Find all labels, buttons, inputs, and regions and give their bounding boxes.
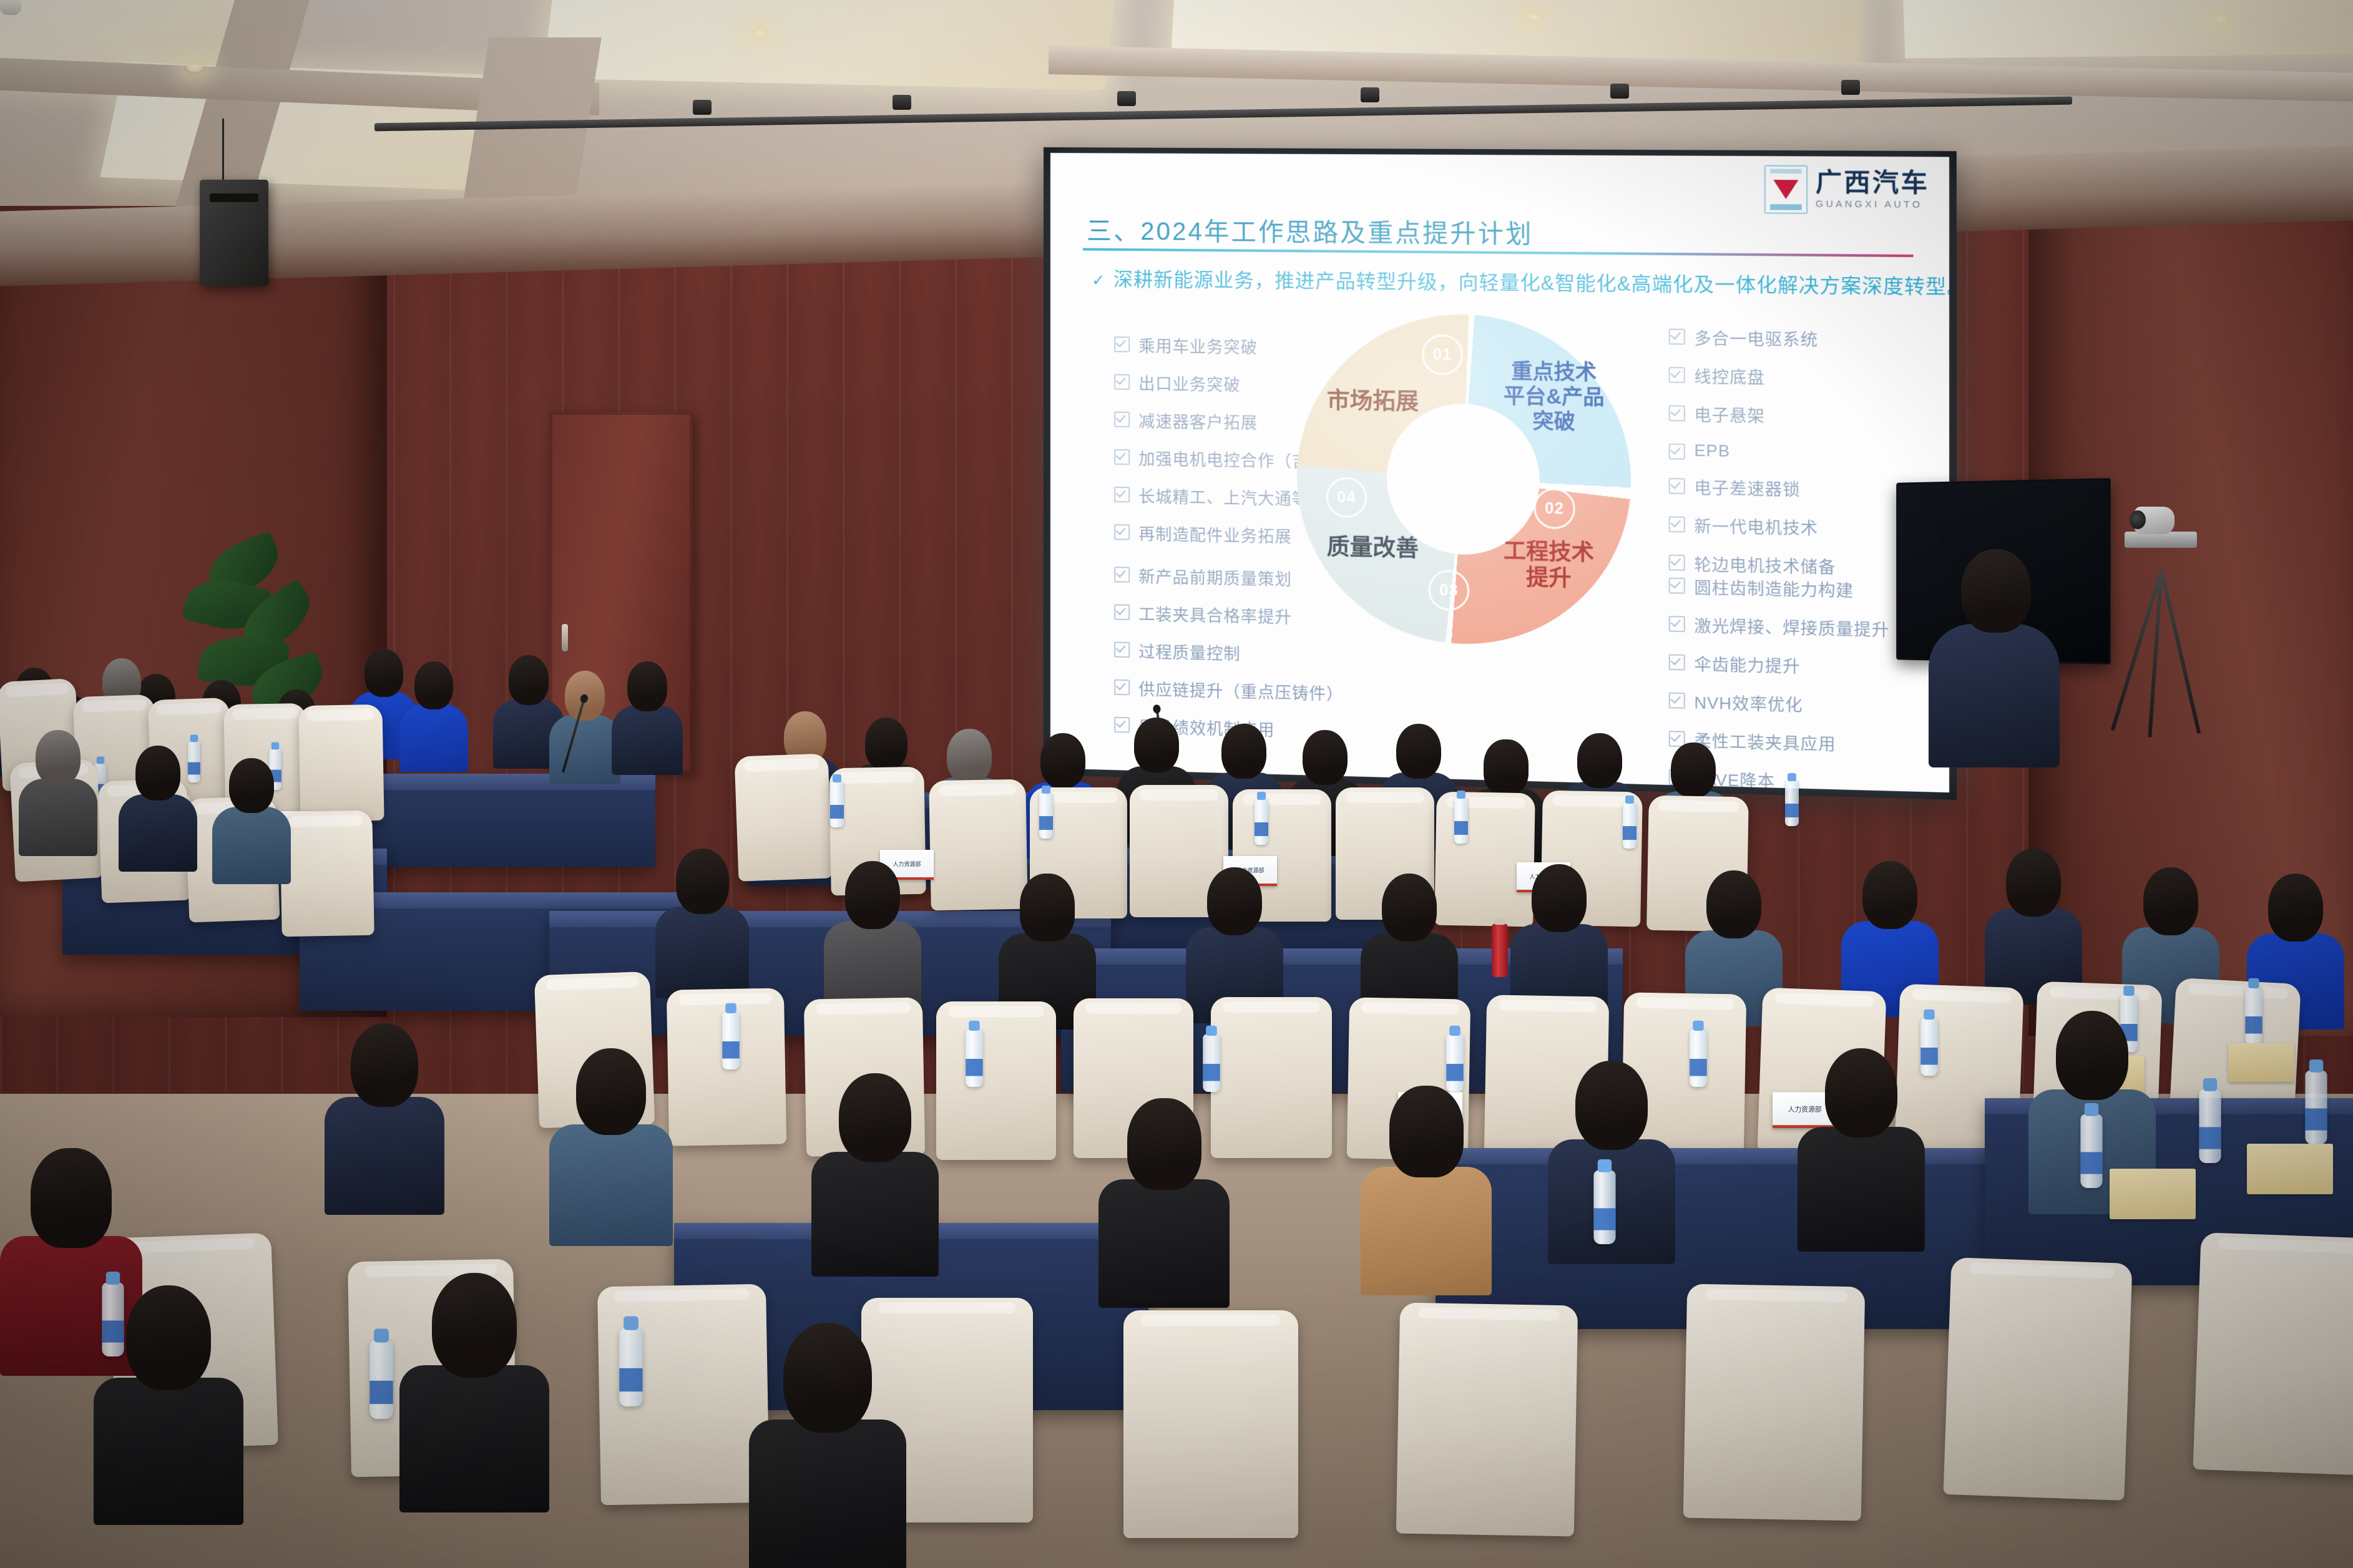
attendee-head xyxy=(2268,874,2323,942)
checkbox-icon xyxy=(1114,374,1130,389)
attendee-torso xyxy=(325,1097,444,1215)
attendee xyxy=(811,1073,939,1275)
checkmark-icon: ✓ xyxy=(1092,271,1106,290)
cycle-badge-04: 04 xyxy=(1326,477,1367,518)
water-bottle xyxy=(1785,780,1799,826)
attendee-head xyxy=(576,1048,646,1135)
attendee xyxy=(19,730,97,855)
attendee xyxy=(1798,1048,1925,1250)
track-light-6 xyxy=(1841,80,1860,95)
attendee xyxy=(655,849,749,997)
attendee xyxy=(1098,1098,1230,1306)
water-bottle xyxy=(1039,792,1053,839)
attendee-head xyxy=(1825,1048,1897,1137)
bullet-text: 线控底盘 xyxy=(1694,364,1764,388)
checkbox-icon xyxy=(1669,578,1685,594)
slide-subtitle-text: 深耕新能源业务，推进产品转型升级，向轻量化&智能化&高端化及一体化解决方案深度转… xyxy=(1113,268,1949,298)
attendee-head xyxy=(1532,864,1587,932)
attendee-head xyxy=(1020,874,1075,942)
chair xyxy=(298,704,384,822)
checkbox-icon xyxy=(1669,516,1685,532)
ceiling-speaker xyxy=(200,180,268,286)
cycle-label-line: 工程技术 xyxy=(1475,538,1623,567)
bullet-item: NVH效率优化 xyxy=(1669,689,1890,718)
attendee-head xyxy=(627,661,668,711)
bullet-item: 供应链提升（重点压铸件） xyxy=(1114,676,1343,705)
water-bottle xyxy=(1446,1035,1464,1093)
cycle-badge-02: 02 xyxy=(1534,488,1575,529)
track-light-3 xyxy=(1117,91,1136,106)
bullet-item: 轮边电机技术储备 xyxy=(1669,552,1836,578)
presentation-slide: 广西汽车 GUANGXI AUTO 三、2024年工作思路及重点提升计划 ✓深耕… xyxy=(1050,153,1949,792)
ceiling-downlight-4 xyxy=(2209,12,2231,26)
ceiling-light-panel-3 xyxy=(542,0,1117,90)
cycle-label-line: 市场拓展 xyxy=(1293,387,1453,416)
checkbox-icon xyxy=(1669,367,1685,383)
bullet-item: 线控底盘 xyxy=(1669,364,1836,389)
track-light-1 xyxy=(693,100,712,115)
attendee-torso xyxy=(212,807,291,884)
attendee xyxy=(399,661,468,771)
attendee-head xyxy=(1134,718,1178,772)
water-bottle xyxy=(369,1340,393,1419)
bullet-item: 多合一电驱系统 xyxy=(1669,326,1836,351)
cycle-label-02: 重点技术平台&产品突破 xyxy=(1480,359,1628,435)
bullet-text: 电子悬架 xyxy=(1694,402,1764,427)
attendee-torso xyxy=(1098,1179,1230,1308)
attendee-torso xyxy=(612,705,683,775)
attendee-head xyxy=(432,1273,517,1378)
attendee-head xyxy=(1862,861,1917,929)
attendee-head xyxy=(126,1285,211,1390)
logo-bar-bottom xyxy=(1770,204,1802,210)
bullet-item: EPB xyxy=(1669,441,1836,463)
cycle-diagram: 01020304市场拓展重点技术平台&产品突破工程技术提升质量改善 xyxy=(1297,313,1631,648)
bullet-text: 轮边电机技术储备 xyxy=(1694,552,1836,578)
attendee-torso xyxy=(811,1152,939,1277)
bullet-text: 减速器客户拓展 xyxy=(1138,409,1258,434)
attendee-head xyxy=(1706,870,1761,938)
slide-subtitle: ✓深耕新能源业务，推进产品转型升级，向轻量化&智能化&高端化及一体化解决方案深度… xyxy=(1092,263,1949,299)
bullet-text: 供应链提升（重点压铸件） xyxy=(1138,677,1343,705)
thermos xyxy=(1492,923,1508,977)
attendee xyxy=(612,661,683,774)
chair xyxy=(735,753,833,881)
water-bottle xyxy=(1255,799,1268,845)
checkbox-icon xyxy=(1114,412,1130,427)
bullet-text: 电子差速器锁 xyxy=(1694,475,1800,501)
attendee-head xyxy=(676,849,729,914)
chair xyxy=(1396,1303,1578,1537)
slide-title: 三、2024年工作思路及重点提升计划 xyxy=(1087,210,1533,250)
company-logo: 广西汽车 GUANGXI AUTO xyxy=(1764,165,1929,215)
water-bottle xyxy=(966,1030,983,1088)
water-bottle xyxy=(722,1012,740,1070)
bullet-text: NVH效率优化 xyxy=(1694,690,1803,716)
bullet-text: 再制造配件业务拓展 xyxy=(1138,522,1292,548)
bullet-item: 新一代电机技术 xyxy=(1669,513,1836,540)
cycle-label-line: 突破 xyxy=(1480,408,1628,435)
attendee-head xyxy=(783,1323,873,1433)
water-bottle xyxy=(830,781,844,827)
bullet-text: 新产品前期质量策划 xyxy=(1138,564,1292,590)
attendee xyxy=(824,861,921,1015)
cycle-label-line: 平台&产品 xyxy=(1480,384,1628,411)
attendee-torso xyxy=(399,1365,549,1512)
bullet-text: 工装夹具合格率提升 xyxy=(1138,601,1292,628)
checkbox-icon xyxy=(1669,555,1685,571)
water-bottle xyxy=(619,1328,642,1406)
chair xyxy=(1683,1284,1866,1521)
attendee xyxy=(1361,1086,1492,1293)
water-bottle xyxy=(1454,797,1468,844)
chair xyxy=(280,811,374,937)
checkbox-icon xyxy=(1114,679,1130,696)
teacup xyxy=(0,0,21,15)
water-bottle xyxy=(2199,1089,2221,1163)
attendee-head xyxy=(1577,733,1622,788)
attendee-head xyxy=(1303,730,1347,785)
chair xyxy=(1943,1257,2132,1501)
water-bottle xyxy=(2245,987,2262,1045)
bullet-text: 激光焊接、焊接质量提升 xyxy=(1694,613,1889,641)
checkbox-icon xyxy=(1114,567,1130,583)
attendee-head xyxy=(31,1148,111,1248)
conference-room-photo: 广西汽车 GUANGXI AUTO 三、2024年工作思路及重点提升计划 ✓深耕… xyxy=(0,0,2353,1568)
bullet-text: 出口业务突破 xyxy=(1138,371,1240,396)
attendee xyxy=(399,1273,549,1510)
track-light-2 xyxy=(893,95,911,110)
attendee-torso xyxy=(749,1419,906,1568)
cycle-label-line: 质量改善 xyxy=(1293,533,1453,563)
attendee-torso xyxy=(94,1378,243,1525)
attendee xyxy=(119,746,197,870)
cycle-label-04: 质量改善 xyxy=(1293,533,1453,563)
logo-v-shape xyxy=(1773,180,1798,199)
bullet-text: 多合一电驱系统 xyxy=(1694,326,1818,351)
attendee-head xyxy=(351,1023,419,1107)
logo-text-cn: 广西汽车 xyxy=(1816,170,1929,196)
attendee xyxy=(212,758,291,883)
bullet-item: 伞齿能力提升 xyxy=(1669,651,1890,679)
attendee-head xyxy=(2143,867,2198,935)
attendee-torso xyxy=(119,794,197,872)
logo-bar-top xyxy=(1770,169,1802,173)
checkbox-icon xyxy=(1669,616,1685,632)
bullet-item: 电子差速器锁 xyxy=(1669,475,1836,501)
checkbox-icon xyxy=(1669,654,1685,670)
bullet-text: EPB xyxy=(1694,441,1730,461)
checkbox-icon xyxy=(1114,449,1130,465)
attendee xyxy=(325,1023,444,1213)
attendee-head xyxy=(1484,739,1528,794)
bullet-item: 圆柱齿制造能力构建 xyxy=(1669,574,1890,602)
bullet-item: 激光焊接、焊接质量提升 xyxy=(1669,613,1890,641)
water-bottle xyxy=(2080,1114,2102,1188)
bullet-text: 圆柱齿制造能力构建 xyxy=(1694,575,1854,601)
camera-tripod xyxy=(2111,532,2211,738)
attendee-head xyxy=(364,649,404,697)
attendee-head xyxy=(845,861,900,929)
bullet-text: 新一代电机技术 xyxy=(1694,514,1818,539)
attendee-head xyxy=(229,758,273,813)
checkbox-icon xyxy=(1114,524,1130,540)
cycle-label-01: 市场拓展 xyxy=(1293,387,1453,416)
chair xyxy=(936,1001,1056,1160)
checkbox-icon xyxy=(1669,478,1685,494)
attendee-head xyxy=(2006,849,2061,917)
attendee-head xyxy=(865,718,907,770)
ceiling-downlight-2 xyxy=(749,26,770,40)
water-bottle xyxy=(2305,1071,2327,1144)
bullet-column-top-right: 多合一电驱系统线控底盘电子悬架EPB电子差速器锁新一代电机技术轮边电机技术储备 xyxy=(1643,325,1836,593)
camera-lens-icon xyxy=(2130,510,2146,529)
attendee xyxy=(1985,849,2082,1003)
chair xyxy=(2193,1232,2353,1476)
notepad xyxy=(2247,1144,2333,1194)
logo-text-en: GUANGXI AUTO xyxy=(1816,198,1929,210)
checkbox-icon xyxy=(1114,642,1130,658)
attendee-head xyxy=(1396,724,1441,779)
bullet-text: 过程质量控制 xyxy=(1138,639,1240,665)
attendee-head xyxy=(135,746,180,801)
attendee-head xyxy=(1221,724,1266,779)
checkbox-icon xyxy=(1114,487,1130,502)
attendee-head xyxy=(947,729,991,784)
speaker-cable xyxy=(222,119,224,187)
attendee-head xyxy=(2056,1011,2128,1100)
water-bottle xyxy=(1203,1035,1220,1093)
cycle-label-03: 工程技术提升 xyxy=(1475,538,1623,593)
attendee-head xyxy=(839,1073,911,1162)
checkbox-icon xyxy=(1669,405,1685,421)
checkbox-icon xyxy=(1669,329,1685,345)
bullet-item: 过程质量控制 xyxy=(1114,639,1343,668)
ceiling-downlight-1 xyxy=(184,60,205,74)
attendee-head xyxy=(1389,1086,1464,1177)
attendee-head xyxy=(1575,1061,1648,1150)
bullet-text: 伞齿能力提升 xyxy=(1694,651,1800,678)
checkbox-icon xyxy=(1669,444,1685,460)
presenter xyxy=(1929,549,2060,761)
presenter-head xyxy=(1961,549,2031,633)
track-light-4 xyxy=(1361,87,1379,102)
bullet-text: 乘用车业务突破 xyxy=(1138,334,1258,358)
tripod-leg xyxy=(2160,570,2201,733)
cycle-label-line: 重点技术 xyxy=(1480,359,1628,386)
checkbox-icon xyxy=(1114,604,1130,620)
attendee-head xyxy=(1382,874,1437,942)
attendee-torso xyxy=(655,907,749,999)
bullet-item: 电子悬架 xyxy=(1669,402,1836,428)
attendee-torso xyxy=(549,1124,673,1246)
guangxi-auto-mark-icon xyxy=(1764,165,1808,214)
attendee-head xyxy=(509,655,549,705)
track-light-5 xyxy=(1610,84,1629,99)
attendee-head xyxy=(1040,733,1085,788)
attendee-head xyxy=(1671,743,1715,797)
attendee-head xyxy=(1127,1098,1201,1190)
attendee xyxy=(749,1323,906,1568)
attendee-torso xyxy=(1798,1127,1925,1252)
attendee-torso xyxy=(19,779,97,856)
cycle-badge-01: 01 xyxy=(1422,334,1463,376)
ceiling-downlight-3 xyxy=(1523,10,1544,24)
attendee-torso xyxy=(399,704,468,772)
ceiling-light-panel-5 xyxy=(1902,0,2353,59)
attendee xyxy=(549,1048,673,1244)
notepad xyxy=(2228,1043,2294,1082)
attendee-torso xyxy=(1361,1167,1492,1296)
cycle-label-line: 提升 xyxy=(1475,564,1623,593)
presenter-torso xyxy=(1929,624,2060,767)
attendee-head xyxy=(414,661,454,709)
chair xyxy=(1123,1310,1298,1538)
cycle-badge-03: 03 xyxy=(1428,570,1469,611)
notepad xyxy=(2110,1169,2196,1219)
door-handle[interactable] xyxy=(562,624,568,651)
checkbox-icon xyxy=(1669,693,1685,709)
projection-screen-frame: 广西汽车 GUANGXI AUTO 三、2024年工作思路及重点提升计划 ✓深耕… xyxy=(1044,147,1957,800)
attendee-head xyxy=(1207,867,1262,935)
water-bottle xyxy=(1593,1171,1615,1244)
checkbox-icon xyxy=(1114,336,1130,352)
attendee-torso xyxy=(549,714,620,784)
water-bottle xyxy=(1623,802,1636,849)
water-bottle xyxy=(1690,1030,1707,1088)
attendee-head xyxy=(36,730,80,785)
attendee xyxy=(549,671,620,784)
water-bottle xyxy=(102,1283,124,1356)
